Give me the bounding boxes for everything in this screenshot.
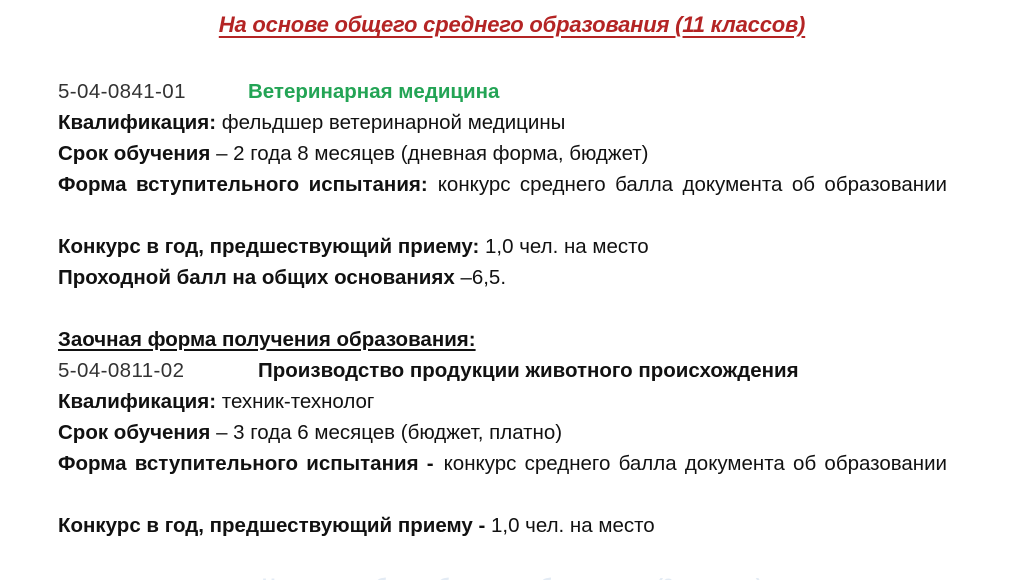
program-name-1: Ветеринарная медицина [248,80,499,103]
qualification-label-2: Квалификация: [58,390,216,413]
program-heading-1: 5-04-0841-01Ветеринарная медицина [58,76,947,107]
competition-line-2: Конкурс в год, предшествующий приему - 1… [58,510,947,541]
competition-value-2: 1,0 чел. на место [491,514,655,537]
competition-value-1: 1,0 чел. на место [485,235,649,258]
document-page: На основе общего среднего образования (1… [0,0,1024,580]
duration-label-2: Срок обучения [58,421,210,444]
competition-label-1: Конкурс в год, предшествующий приему: [58,235,479,258]
section-heading-row: Заочная форма получения образования: [58,324,947,355]
exam-label-2: Форма вступительного испытания - [58,452,434,475]
cutoff-next-heading: На основе общего базового образования (9… [100,576,924,580]
exam-value-2: конкурс среднего балла документа об обра… [444,452,947,475]
section-spacer [58,293,947,324]
program-heading-2: 5-04-0811-02Производство продукции живот… [58,355,947,386]
page-title-text: На основе общего среднего образования (1… [219,12,805,38]
program-code-1: 5-04-0841-01 [58,76,248,107]
qualification-value-1: фельдшер ветеринарной медицины [222,111,566,134]
competition-line-1: Конкурс в год, предшествующий приему: 1,… [58,231,947,262]
correspondence-form-heading: Заочная форма получения образования: [58,324,476,355]
duration-value-2: – 3 года 6 месяцев (бюджет, платно) [216,421,562,444]
exam-paragraph-1: Форма вступительного испытания:конкурс с… [58,169,947,231]
duration-line-1: Срок обучения – 2 года 8 месяцев (дневна… [58,138,947,169]
passing-score-label-1: Проходной балл на общих основаниях [58,266,455,289]
exam-paragraph-2: Форма вступительного испытания -конкурс … [58,448,947,510]
exam-value-1: конкурс среднего балла документа об обра… [438,173,947,196]
exam-label-1: Форма вступительного испытания: [58,173,428,196]
duration-label-1: Срок обучения [58,142,210,165]
qualification-value-2: техник-технолог [222,390,375,413]
qualification-label-1: Квалификация: [58,111,216,134]
program-code-2: 5-04-0811-02 [58,355,258,386]
qualification-line-1: Квалификация: фельдшер ветеринарной меди… [58,107,947,138]
competition-label-2: Конкурс в год, предшествующий приему - [58,514,485,537]
duration-value-1: – 2 года 8 месяцев (дневная форма, бюдже… [216,142,648,165]
qualification-line-2: Квалификация: техник-технолог [58,386,947,417]
passing-score-value-1: –6,5. [460,266,506,289]
page-title: На основе общего среднего образования (1… [0,12,1024,38]
passing-score-line-1: Проходной балл на общих основаниях –6,5. [58,262,947,293]
duration-line-2: Срок обучения – 3 года 6 месяцев (бюджет… [58,417,947,448]
program-name-2: Производство продукции животного происхо… [258,359,799,382]
document-body: 5-04-0841-01Ветеринарная медицина Квалиф… [58,76,947,541]
